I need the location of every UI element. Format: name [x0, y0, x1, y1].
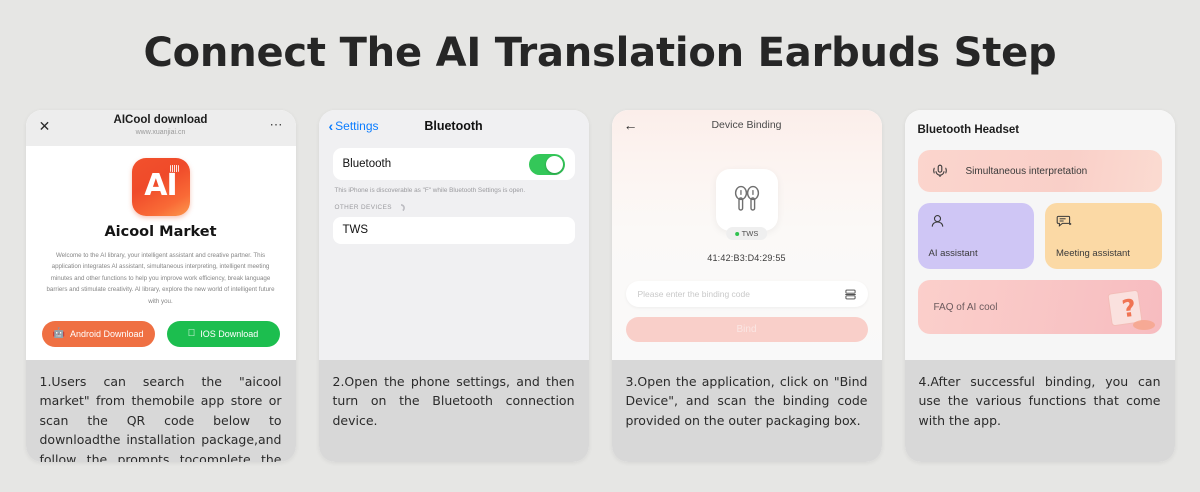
headset-page-title: Bluetooth Headset [918, 124, 1162, 136]
apple-icon:  [188, 329, 196, 339]
feature-meeting-assistant[interactable]: Meeting assistant [1045, 203, 1162, 269]
app-description: Welcome to the AI library, your intellig… [40, 250, 282, 307]
settings-nav-title: Bluetooth [319, 119, 589, 133]
earbuds-icon [730, 183, 764, 217]
device-list-item-tws[interactable]: TWS [333, 217, 575, 244]
steps-panel-row: ✕ AICool download www.xuanjiai.cn ⋯ AI A… [0, 110, 1200, 462]
bluetooth-toggle-row[interactable]: Bluetooth [333, 148, 575, 180]
phone-screen-1: ✕ AICool download www.xuanjiai.cn ⋯ AI A… [26, 110, 296, 360]
feature-simultaneous-interpretation[interactable]: Simultaneous interpretation [918, 150, 1162, 192]
feature-label-meeting-assistant: Meeting assistant [1056, 248, 1151, 259]
feature-card-row: AI assistant Meeting assistant [918, 203, 1162, 269]
step-caption-4: 4.After successful binding, you can use … [905, 360, 1175, 462]
bluetooth-toggle[interactable] [529, 154, 565, 175]
binding-navbar: ← Device Binding [612, 110, 882, 144]
step-panel-3: ← Device Binding TWS 41:42:B3:D4:29:55 [612, 110, 882, 462]
step-caption-1: 1.Users can search the "aicool market" f… [26, 360, 296, 462]
user-assistant-icon [929, 213, 946, 230]
loading-spinner-icon [397, 204, 405, 212]
feature-label-faq: FAQ of AI cool [934, 302, 998, 313]
step-panel-1: ✕ AICool download www.xuanjiai.cn ⋯ AI A… [26, 110, 296, 462]
step-panel-4: Bluetooth Headset Simultaneous interpret… [905, 110, 1175, 462]
step-caption-2: 2.Open the phone settings, and then turn… [319, 360, 589, 462]
webview-title: AICool download [26, 114, 296, 126]
device-name: TWS [343, 224, 369, 236]
bind-button[interactable]: Bind [626, 317, 868, 342]
binding-nav-title: Device Binding [612, 119, 882, 131]
device-mac-address: 41:42:B3:D4:29:55 [612, 253, 882, 263]
android-icon: 🤖 [53, 329, 65, 339]
bluetooth-label: Bluetooth [343, 158, 392, 170]
app-name: Aicool Market [40, 224, 282, 240]
feature-label-interpretation: Simultaneous interpretation [966, 166, 1088, 177]
ios-download-label: IOS Download [200, 329, 258, 339]
app-icon-text: AI [132, 170, 190, 202]
earbuds-device-card[interactable]: TWS [716, 169, 778, 231]
settings-navbar: ‹ Settings Bluetooth [319, 110, 589, 144]
chat-notes-icon [1056, 213, 1073, 230]
feature-label-ai-assistant: AI assistant [929, 248, 1024, 259]
app-download-body: AI Aicool Market Welcome to the AI libra… [26, 146, 296, 360]
device-status-badge: TWS [726, 227, 768, 240]
aicool-app-icon: AI [132, 158, 190, 216]
binding-code-input[interactable]: Please enter the binding code [626, 281, 868, 307]
bluetooth-discoverable-note: This iPhone is discoverable as "F" while… [335, 186, 573, 196]
step-caption-3: 3.Open the application, click on "Bind D… [612, 360, 882, 462]
webview-url: www.xuanjiai.cn [26, 129, 296, 136]
question-mark-icon: ? [1094, 284, 1156, 332]
more-options-icon[interactable]: ⋯ [270, 118, 284, 132]
microphone-icon [932, 163, 948, 179]
phone-screen-3: ← Device Binding TWS 41:42:B3:D4:29:55 [612, 110, 882, 360]
app-webview-header: ✕ AICool download www.xuanjiai.cn ⋯ [26, 110, 296, 146]
device-badge-label: TWS [742, 229, 759, 238]
feature-ai-assistant[interactable]: AI assistant [918, 203, 1035, 269]
ios-download-button[interactable]:  IOS Download [167, 321, 280, 347]
step-panel-2: ‹ Settings Bluetooth Bluetooth This iPho… [319, 110, 589, 462]
other-devices-section-header: OTHER DEVICES [335, 204, 573, 212]
toggle-knob [546, 156, 563, 173]
phone-screen-4: Bluetooth Headset Simultaneous interpret… [905, 110, 1175, 360]
download-buttons: 🤖 Android Download  IOS Download [40, 321, 282, 347]
phone-screen-2: ‹ Settings Bluetooth Bluetooth This iPho… [319, 110, 589, 360]
status-dot-icon [735, 232, 739, 236]
android-download-button[interactable]: 🤖 Android Download [42, 321, 155, 347]
other-devices-label: OTHER DEVICES [335, 204, 392, 211]
feature-faq[interactable]: FAQ of AI cool ? [918, 280, 1162, 334]
android-download-label: Android Download [70, 329, 144, 339]
scan-code-icon[interactable] [845, 289, 856, 300]
binding-code-placeholder: Please enter the binding code [638, 289, 750, 299]
page-title: Connect The AI Translation Earbuds Step [0, 30, 1200, 76]
